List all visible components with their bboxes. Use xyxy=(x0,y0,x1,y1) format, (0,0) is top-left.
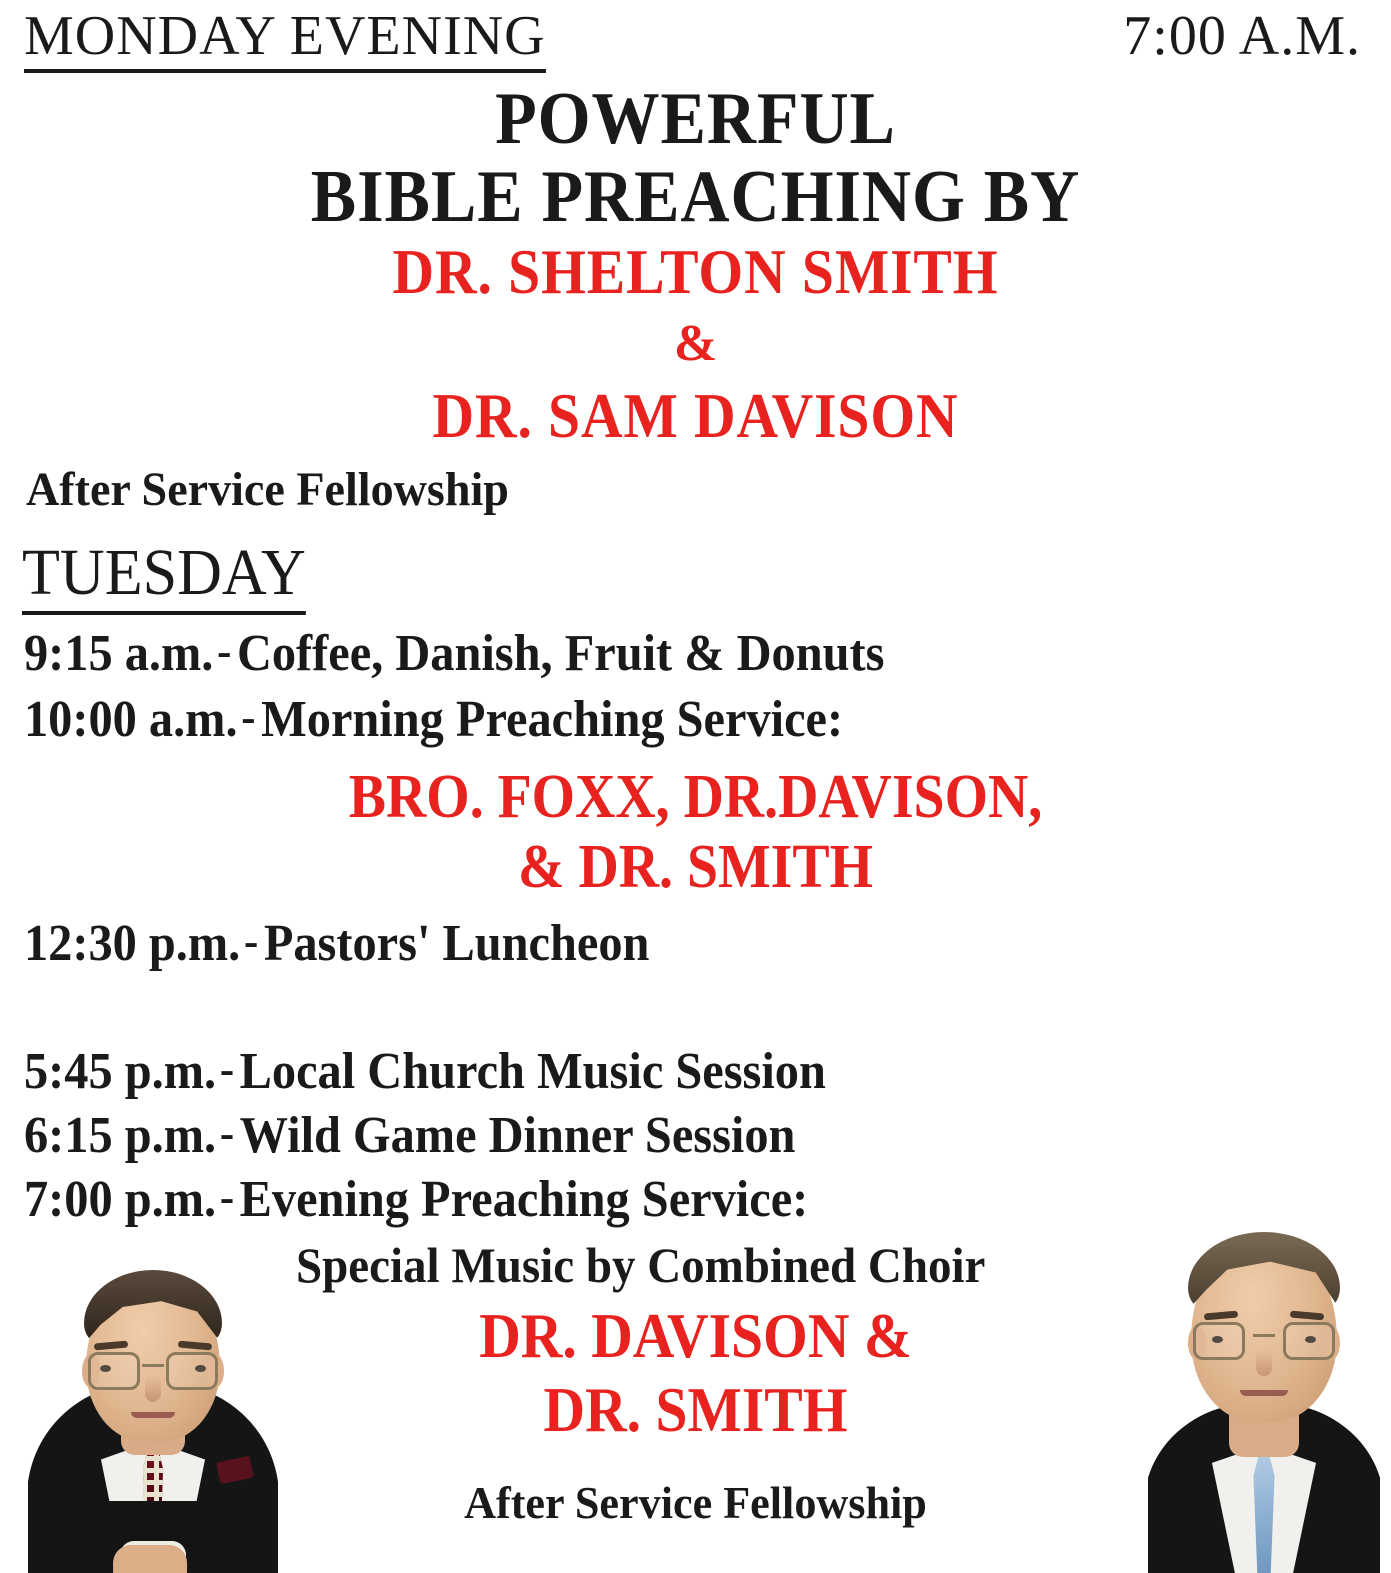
schedule-time: 9:15 a.m. xyxy=(24,625,213,682)
schedule-time: 5:45 p.m. xyxy=(24,1043,216,1100)
schedule-description: Wild Game Dinner Session xyxy=(240,1107,796,1164)
schedule-row: 12:30 p.m.-Pastors' Luncheon xyxy=(24,918,649,970)
portrait-photo-right xyxy=(1148,1218,1380,1573)
speaker-name-sam-davison: DR. SAM DAVISON xyxy=(70,384,1322,448)
day-heading-tuesday: TUESDAY xyxy=(22,540,306,606)
title-line-bible-preaching-by: BIBLE PREACHING BY xyxy=(56,160,1336,234)
mouth xyxy=(1240,1390,1288,1396)
schedule-time: 12:30 p.m. xyxy=(24,915,240,972)
portrait-right-figure xyxy=(1148,1218,1380,1573)
schedule-row: 5:45 p.m.-Local Church Music Session xyxy=(24,1046,826,1098)
speaker-ampersand: & xyxy=(0,318,1391,370)
mouth xyxy=(131,1412,175,1418)
monday-after-service-fellowship: After Service Fellowship xyxy=(26,466,509,514)
schedule-dash-icon: - xyxy=(220,1110,234,1156)
schedule-description: Evening Preaching Service: xyxy=(240,1171,809,1228)
schedule-row: 7:00 p.m.-Evening Preaching Service: xyxy=(24,1174,808,1226)
eyeglass-lens-right xyxy=(1283,1322,1335,1360)
schedule-description: Coffee, Danish, Fruit & Donuts xyxy=(237,625,884,682)
day-heading-tuesday-text: TUESDAY xyxy=(22,536,306,615)
schedule-time: 6:15 p.m. xyxy=(24,1107,216,1164)
header-day-label: MONDAY EVENING xyxy=(24,8,546,64)
schedule-dash-icon: - xyxy=(220,1046,234,1092)
header-day-text: MONDAY EVENING xyxy=(24,5,546,73)
schedule-row: 10:00 a.m.-Morning Preaching Service: xyxy=(24,694,843,746)
special-music-line: Special Music by Combined Choir xyxy=(296,1240,985,1290)
schedule-description: Pastors' Luncheon xyxy=(264,915,650,972)
eyeglass-bridge xyxy=(1253,1334,1275,1337)
schedule-time: 10:00 a.m. xyxy=(24,691,238,748)
eyeglass-lens-right xyxy=(166,1352,218,1390)
eyeglass-lens-left xyxy=(1193,1322,1245,1360)
hand xyxy=(113,1545,187,1573)
schedule-time: 7:00 p.m. xyxy=(24,1171,216,1228)
morning-preachers-line-2: & DR. SMITH xyxy=(70,836,1322,898)
title-line-powerful: POWERFUL xyxy=(56,82,1336,156)
morning-preachers-line-1: BRO. FOXX, DR.DAVISON, xyxy=(70,766,1322,828)
schedule-dash-icon: - xyxy=(241,694,255,740)
schedule-description: Local Church Music Session xyxy=(240,1043,826,1100)
schedule-dash-icon: - xyxy=(244,918,258,964)
schedule-dash-icon: - xyxy=(220,1174,234,1220)
nose xyxy=(145,1376,161,1402)
eyeglass-lens-left xyxy=(88,1352,140,1390)
portrait-photo-left xyxy=(28,1248,278,1573)
portrait-left-figure xyxy=(28,1248,278,1573)
nose xyxy=(1256,1350,1272,1376)
schedule-row: 6:15 p.m.-Wild Game Dinner Session xyxy=(24,1110,795,1162)
header-time-label: 7:00 A.M. xyxy=(1123,8,1361,64)
speaker-name-shelton-smith: DR. SHELTON SMITH xyxy=(70,240,1322,304)
schedule-dash-icon: - xyxy=(217,628,231,674)
schedule-description: Morning Preaching Service: xyxy=(261,691,843,748)
poster-page: MONDAY EVENING 7:00 A.M. POWERFUL BIBLE … xyxy=(0,0,1391,1573)
eyeglass-bridge xyxy=(142,1364,164,1367)
schedule-row: 9:15 a.m.-Coffee, Danish, Fruit & Donuts xyxy=(24,628,884,680)
